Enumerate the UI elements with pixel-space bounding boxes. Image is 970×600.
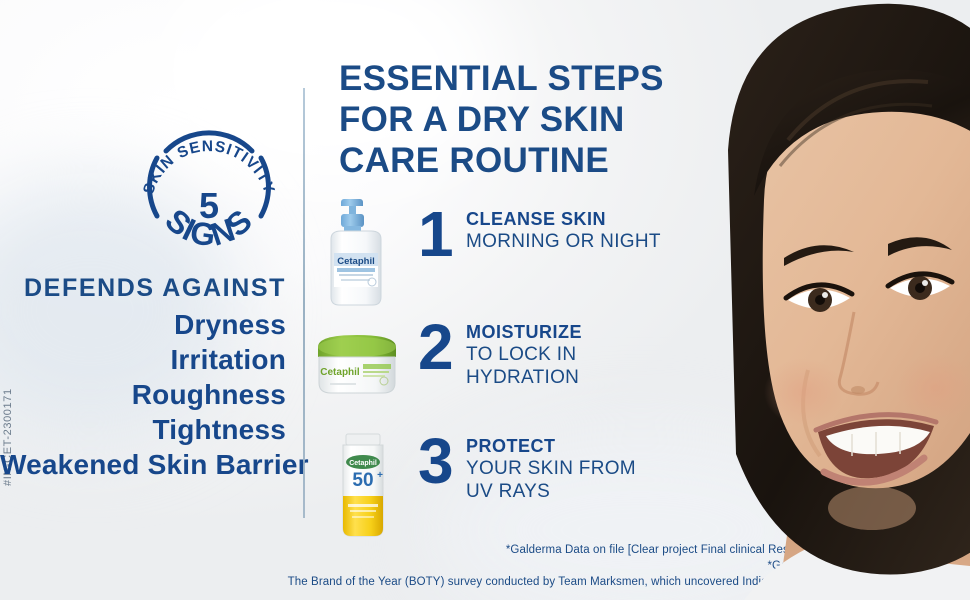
page-title: ESSENTIAL STEPS FOR A DRY SKIN CARE ROUT… bbox=[339, 58, 699, 181]
label-line-3 bbox=[341, 279, 370, 281]
step-2-text: MOISTURIZE TO LOCK IN HYDRATION bbox=[466, 318, 582, 389]
sunscreen-tube-svg: Cetaphil 50 + bbox=[330, 430, 396, 542]
nostril bbox=[851, 386, 865, 394]
step-1-subtitle-line: MORNING OR NIGHT bbox=[466, 230, 661, 253]
cheek-left bbox=[764, 358, 844, 426]
cleanser-brand-text: Cetaphil bbox=[337, 256, 374, 267]
label-line-1 bbox=[337, 268, 375, 272]
eye-right-highlight bbox=[922, 280, 928, 286]
cream-label-line-1 bbox=[363, 371, 389, 373]
sunscreen-brand-text: Cetaphil bbox=[349, 460, 377, 467]
step-1: 1 CLEANSE SKIN MORNING OR NIGHT bbox=[418, 205, 661, 263]
model-portrait bbox=[676, 0, 970, 600]
sign-item: Tightness bbox=[0, 412, 286, 447]
skin-sensitivity-5-signs-badge: SKIN SENSITIVITY 5 SIGNS bbox=[133, 112, 285, 264]
sign-item: Irritation bbox=[0, 342, 286, 377]
tube-cap bbox=[346, 434, 380, 445]
step-2-subtitle-line: TO LOCK IN bbox=[466, 343, 582, 366]
tube-label-line-3 bbox=[352, 516, 374, 518]
cleanser-bottle-svg: Cetaphil bbox=[313, 193, 399, 311]
eye-left-highlight bbox=[822, 292, 828, 298]
step-2-title: MOISTURIZE bbox=[466, 322, 582, 343]
product-cetaphil-sunscreen: Cetaphil 50 + bbox=[330, 430, 396, 547]
step-3: 3 PROTECT YOUR SKIN FROM UV RAYS bbox=[418, 432, 636, 503]
cream-label-line-3 bbox=[330, 383, 356, 385]
pump-collar bbox=[341, 214, 364, 227]
badge-svg: SKIN SENSITIVITY 5 SIGNS bbox=[133, 112, 285, 264]
spf-plus-icon: + bbox=[377, 470, 383, 481]
sign-item: Dryness bbox=[0, 307, 286, 342]
cream-label-band bbox=[363, 364, 391, 369]
headline-line-1: ESSENTIAL STEPS bbox=[339, 58, 699, 99]
step-3-title: PROTECT bbox=[466, 436, 636, 457]
product-cetaphil-cream: Cetaphil bbox=[310, 325, 404, 410]
vertical-divider bbox=[303, 88, 305, 518]
spf-value: 50 bbox=[352, 470, 373, 491]
step-1-title: CLEANSE SKIN bbox=[466, 209, 661, 230]
jar-lid-top bbox=[318, 337, 396, 357]
pump-head bbox=[341, 199, 363, 206]
step-2: 2 MOISTURIZE TO LOCK IN HYDRATION bbox=[418, 318, 582, 389]
pump-stem bbox=[349, 206, 356, 215]
label-line-2 bbox=[339, 274, 373, 276]
chin-shading bbox=[828, 486, 916, 530]
defends-against-heading: DEFENDS AGAINST bbox=[0, 274, 286, 303]
poster-canvas: #IN-CET-2300171 SKIN SENSITIVITY 5 SIGNS… bbox=[0, 0, 970, 600]
headline-line-3: CARE ROUTINE bbox=[339, 140, 699, 181]
headline-line-2: FOR A DRY SKIN bbox=[339, 99, 699, 140]
step-2-number: 2 bbox=[418, 318, 466, 376]
product-cetaphil-cleanser: Cetaphil bbox=[313, 193, 399, 316]
cream-jar-svg: Cetaphil bbox=[310, 325, 404, 405]
sign-item: Weakened Skin Barrier bbox=[0, 447, 286, 482]
step-2-subtitle-line: HYDRATION bbox=[466, 366, 582, 389]
step-1-text: CLEANSE SKIN MORNING OR NIGHT bbox=[466, 205, 661, 253]
tube-label-line-1 bbox=[348, 504, 378, 507]
step-3-text: PROTECT YOUR SKIN FROM UV RAYS bbox=[466, 432, 636, 503]
step-1-number: 1 bbox=[418, 205, 466, 263]
cream-label-line-2 bbox=[363, 375, 385, 377]
step-3-subtitle-line: YOUR SKIN FROM bbox=[466, 457, 636, 480]
tube-label-line-2 bbox=[350, 510, 376, 512]
portrait-svg bbox=[676, 0, 970, 600]
step-3-number: 3 bbox=[418, 432, 466, 490]
cream-brand-text: Cetaphil bbox=[320, 367, 360, 378]
step-3-subtitle-line: UV RAYS bbox=[466, 480, 636, 503]
sign-item: Roughness bbox=[0, 377, 286, 412]
signs-list: Dryness Irritation Roughness Tightness W… bbox=[0, 307, 286, 482]
